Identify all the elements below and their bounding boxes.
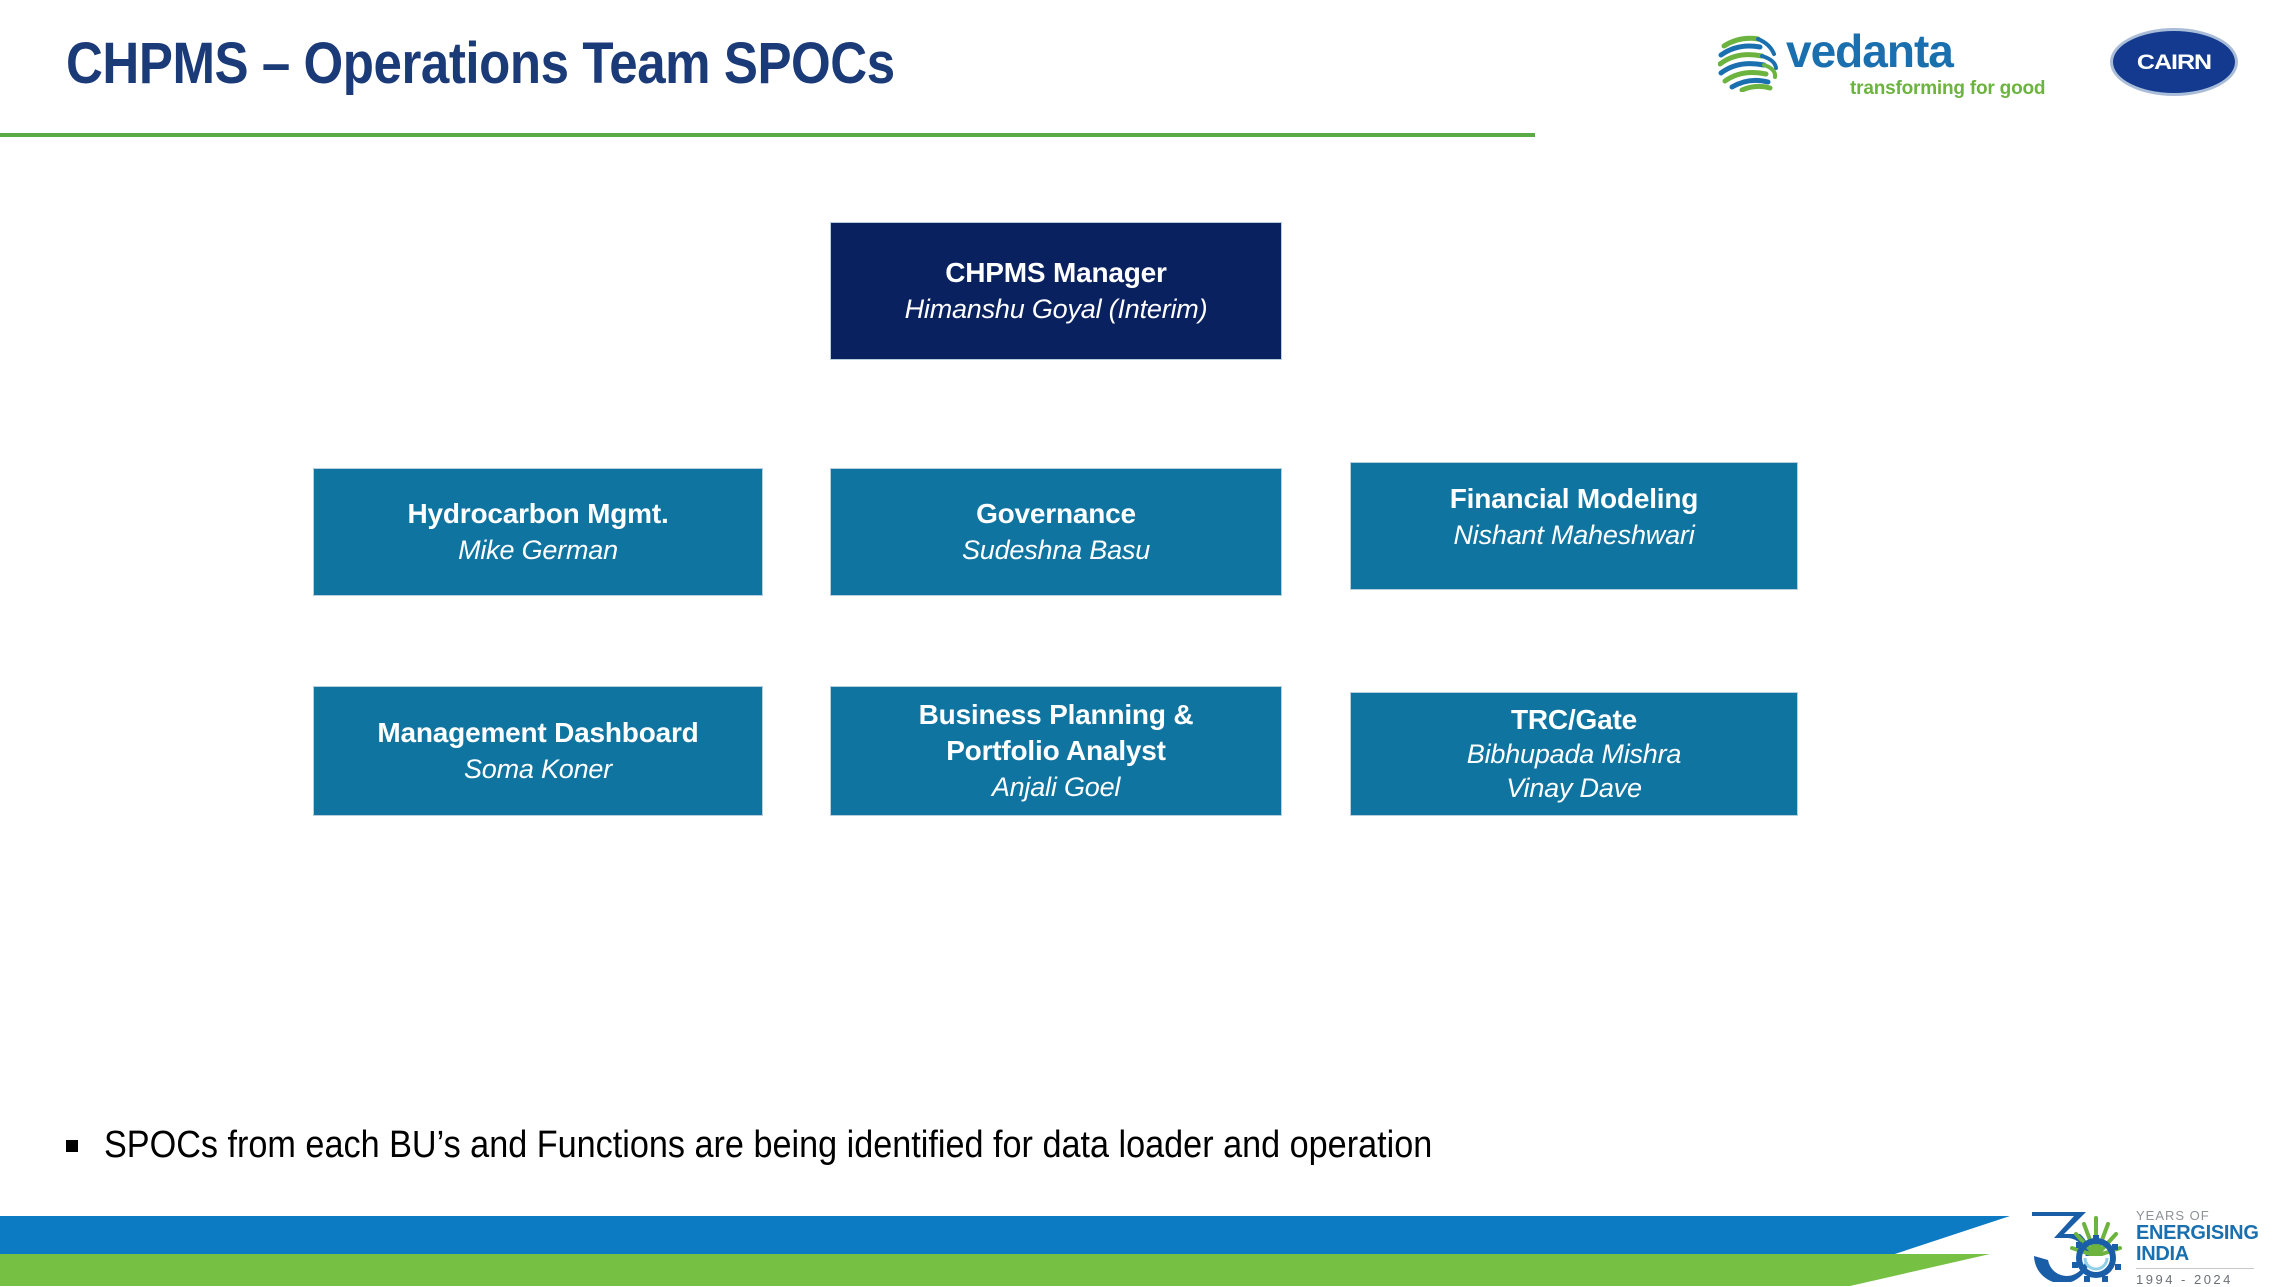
org-node-person: Anjali Goel	[992, 769, 1120, 805]
org-node-person: Nishant Maheshwari	[1453, 517, 1694, 553]
page-title: CHPMS – Operations Team SPOCs	[66, 30, 895, 97]
org-node-role: Governance	[976, 496, 1136, 532]
footer-bar-green	[0, 1254, 1990, 1286]
org-node-financial-modeling[interactable]: Financial Modeling Nishant Maheshwari	[1350, 462, 1798, 590]
org-node-person-secondary: Vinay Dave	[1506, 771, 1642, 805]
org-node-hydrocarbon-mgmt[interactable]: Hydrocarbon Mgmt. Mike German	[313, 468, 763, 596]
anniversary-dates: 1994 - 2024	[2136, 1272, 2262, 1287]
anniversary-divider	[2136, 1268, 2254, 1269]
footer-bar-blue	[0, 1216, 2010, 1256]
org-node-role: Financial Modeling	[1450, 481, 1698, 517]
title-underline-rule	[0, 133, 1535, 137]
org-node-role: Management Dashboard	[377, 715, 698, 751]
org-node-role: TRC/Gate	[1511, 703, 1637, 737]
vedanta-logo: vedanta transforming for good	[1718, 26, 2063, 104]
org-node-trc-gate[interactable]: TRC/Gate Bibhupada Mishra Vinay Dave	[1350, 692, 1798, 816]
notes-bullet-row: SPOCs from each BU’s and Functions are b…	[66, 1122, 1580, 1168]
org-node-management-dashboard[interactable]: Management Dashboard Soma Koner	[313, 686, 763, 816]
anniversary-energising: ENERGISING	[2136, 1223, 2262, 1244]
org-node-role: Hydrocarbon Mgmt.	[407, 496, 668, 532]
square-bullet-icon	[66, 1140, 78, 1152]
org-node-role-line1: Business Planning &	[919, 697, 1194, 733]
vedanta-wordmark: vedanta	[1786, 28, 1953, 74]
anniversary-logo: YEARS OF ENERGISING INDIA 1994 - 2024	[2024, 1204, 2264, 1282]
org-node-role-line2: Portfolio Analyst	[946, 733, 1166, 769]
vedanta-tagline: transforming for good	[1850, 78, 2045, 100]
org-node-chpms-manager[interactable]: CHPMS Manager Himanshu Goyal (Interim)	[830, 222, 1282, 360]
notes-bullet-text: SPOCs from each BU’s and Functions are b…	[104, 1122, 1432, 1168]
org-node-person: Bibhupada Mishra	[1467, 737, 1681, 771]
cairn-wordmark: CAIRN	[2110, 33, 2238, 91]
anniversary-years-of: YEARS OF	[2136, 1208, 2262, 1223]
anniversary-30-mark-icon	[2024, 1204, 2128, 1282]
cairn-logo: CAIRN	[2110, 28, 2238, 96]
org-node-role: CHPMS Manager	[945, 255, 1166, 291]
org-node-governance[interactable]: Governance Sudeshna Basu	[830, 468, 1282, 596]
org-node-person: Himanshu Goyal (Interim)	[905, 291, 1208, 327]
vedanta-globe-icon	[1718, 30, 1780, 92]
anniversary-text-block: YEARS OF ENERGISING INDIA 1994 - 2024	[2136, 1208, 2262, 1287]
anniversary-india: INDIA	[2136, 1244, 2262, 1265]
org-node-person: Sudeshna Basu	[962, 532, 1150, 568]
org-node-person: Mike German	[458, 532, 618, 568]
org-node-business-planning-portfolio-analyst[interactable]: Business Planning & Portfolio Analyst An…	[830, 686, 1282, 816]
org-node-person: Soma Koner	[464, 751, 612, 787]
